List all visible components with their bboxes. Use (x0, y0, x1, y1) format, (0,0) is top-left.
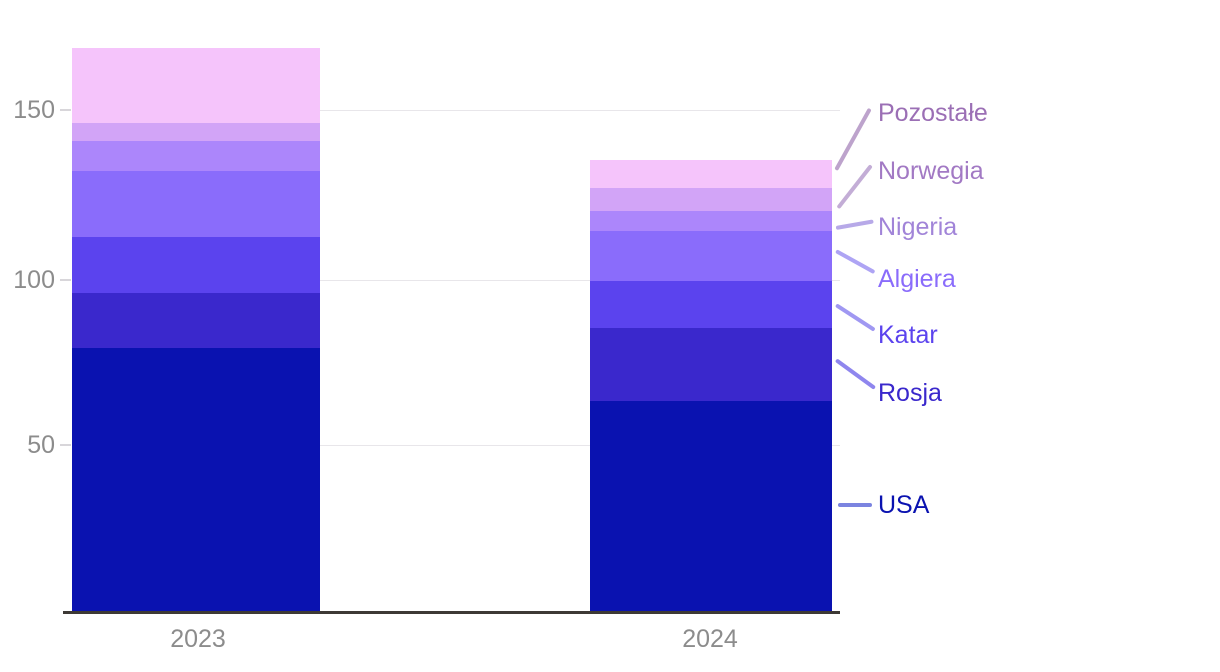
bar-segment-2024-rosja[interactable] (590, 328, 832, 401)
bar-segment-2023-algiera[interactable] (72, 171, 320, 237)
bar-segment-2023-katar[interactable] (72, 237, 320, 293)
tick-dash-150 (60, 109, 71, 111)
x-axis-line (63, 611, 840, 614)
series-label-nigeria[interactable]: Nigeria (878, 215, 957, 240)
leader-line-norwegia (836, 164, 872, 209)
leader-line-pozostale (834, 108, 871, 171)
gridline-150 (320, 110, 840, 111)
series-label-rosja[interactable]: Rosja (878, 381, 942, 406)
series-label-algiera[interactable]: Algiera (878, 267, 956, 292)
stacked-bar-chart: 150 100 50 2023 2024 Pozostałe Norweg (0, 0, 1220, 672)
y-axis-tick-50: 50 (0, 433, 55, 458)
y-axis-tick-100: 100 (0, 268, 55, 293)
series-label-katar[interactable]: Katar (878, 323, 938, 348)
series-label-pozostale[interactable]: Pozostałe (878, 101, 988, 126)
x-axis-label-2024: 2024 (640, 627, 780, 652)
series-label-norwegia[interactable]: Norwegia (878, 159, 984, 184)
bar-segment-2024-usa[interactable] (590, 401, 832, 612)
leader-line-usa (838, 503, 872, 507)
leader-line-nigeria (836, 219, 874, 230)
x-axis-label-2023: 2023 (128, 627, 268, 652)
bar-segment-2023-pozostale[interactable] (72, 48, 320, 123)
leader-line-rosja (835, 358, 876, 389)
bar-segment-2023-norwegia[interactable] (72, 123, 320, 141)
bar-segment-2023-usa[interactable] (72, 348, 320, 612)
bar-2023[interactable] (72, 48, 320, 612)
bar-segment-2024-algiera[interactable] (590, 231, 832, 281)
y-axis-tick-150: 150 (0, 98, 55, 123)
leader-line-katar (835, 303, 876, 331)
series-label-usa[interactable]: USA (878, 493, 929, 518)
leader-line-algiera (835, 249, 875, 274)
bar-segment-2023-rosja[interactable] (72, 293, 320, 348)
bar-segment-2024-pozostale[interactable] (590, 160, 832, 188)
bar-2024[interactable] (590, 160, 832, 612)
bar-segment-2024-nigeria[interactable] (590, 211, 832, 231)
bar-segment-2024-katar[interactable] (590, 281, 832, 328)
tick-dash-100 (60, 279, 71, 281)
bar-segment-2023-nigeria[interactable] (72, 141, 320, 171)
tick-dash-50 (60, 444, 71, 446)
bar-segment-2024-norwegia[interactable] (590, 188, 832, 211)
